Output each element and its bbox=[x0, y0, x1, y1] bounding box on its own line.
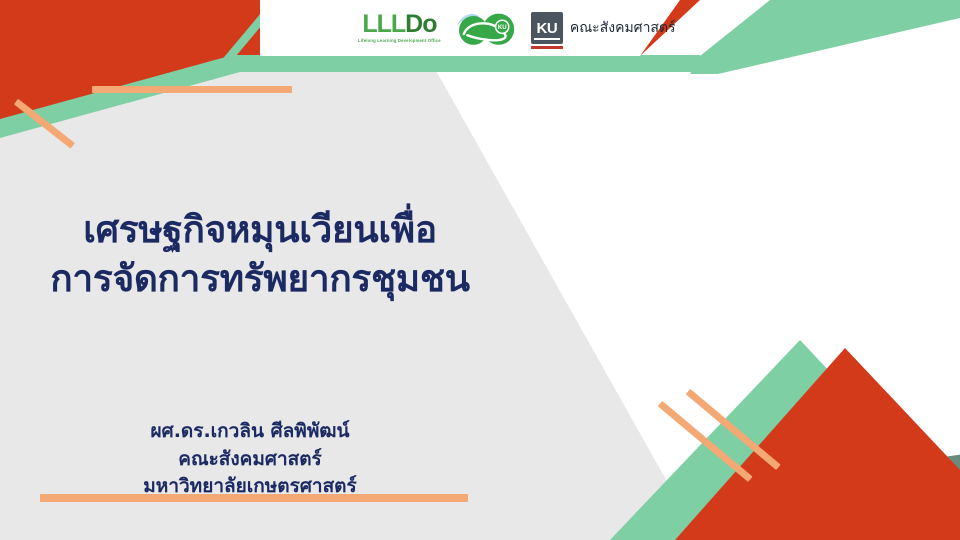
author-name: ผศ.ดร.เกวลิน ศีลพิพัฒน์ bbox=[0, 418, 500, 446]
llldo-wordmark: LLLDo bbox=[362, 12, 436, 37]
page-title: เศรษฐกิจหมุนเวียนเพื่อ การจัดการทรัพยากร… bbox=[0, 206, 520, 304]
author-faculty: คณะสังคมศาสตร์ bbox=[0, 446, 500, 474]
llldo-lll-text: LLL bbox=[362, 10, 405, 38]
logo-bar: LLLDo Lifelong Learning Development Offi… bbox=[358, 6, 676, 50]
orange-accent-line-top bbox=[92, 86, 292, 93]
ku-red-underline bbox=[531, 46, 563, 49]
ku-faculty-logo: KU คณะสังคมศาสตร์ bbox=[531, 12, 676, 44]
author-block: ผศ.ดร.เกวลิน ศีลพิพัฒน์ คณะสังคมศาสตร์ ม… bbox=[0, 418, 500, 501]
ku-infinity-logo: KU bbox=[453, 8, 519, 48]
ku-monogram-text: KU bbox=[536, 21, 557, 36]
svg-text:KU: KU bbox=[498, 25, 507, 31]
llldo-do-text: Do bbox=[405, 10, 436, 38]
faculty-name-label: คณะสังคมศาสตร์ bbox=[570, 17, 676, 39]
ku-monogram-mark: KU bbox=[531, 12, 563, 44]
title-line-2: การจัดการทรัพยากรชุมชน bbox=[0, 255, 520, 304]
llldo-tagline: Lifelong Learning Development Office bbox=[358, 39, 441, 43]
presentation-slide: LLLDo Lifelong Learning Development Offi… bbox=[0, 0, 960, 540]
llldo-logo: LLLDo Lifelong Learning Development Offi… bbox=[358, 12, 441, 43]
title-line-1: เศรษฐกิจหมุนเวียนเพื่อ bbox=[83, 208, 437, 251]
author-university: มหาวิทยาลัยเกษตรศาสตร์ bbox=[0, 473, 500, 501]
